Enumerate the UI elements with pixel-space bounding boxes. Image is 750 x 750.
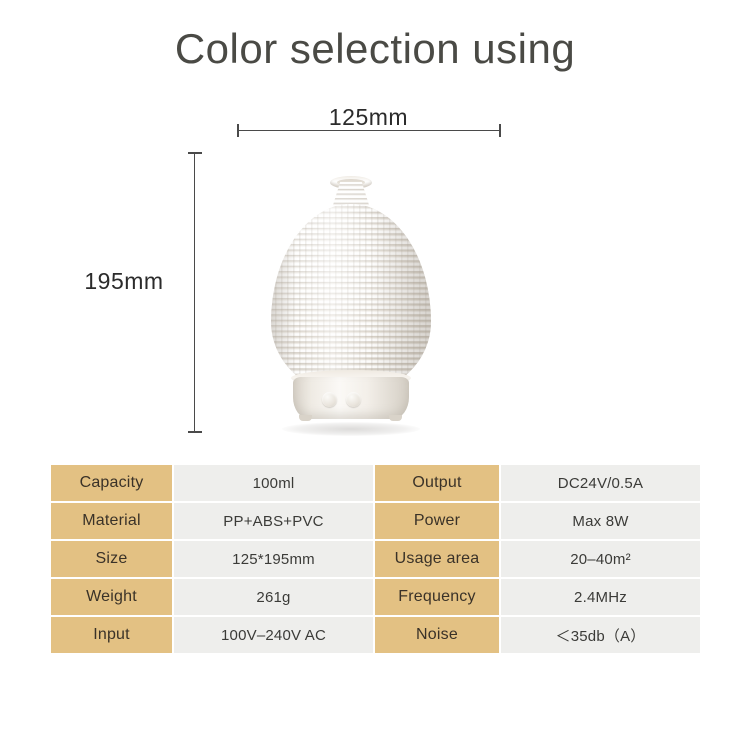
diffuser-foot-right (389, 415, 402, 421)
spec-label: Material (51, 503, 172, 539)
height-dimension-label: 195mm (64, 268, 184, 295)
spec-label: Weight (51, 579, 172, 615)
spec-value: DC24V/0.5A (501, 465, 700, 501)
product-shadow (282, 422, 420, 436)
table-row: Output DC24V/0.5A (375, 465, 700, 501)
spec-label: Input (51, 617, 172, 653)
table-row: Size 125*195mm (51, 541, 373, 577)
width-dimension-tick-left (237, 124, 239, 137)
table-row: Weight 261g (51, 579, 373, 615)
specification-table: Capacity 100ml Material PP+ABS+PVC Size … (51, 465, 700, 653)
spec-value: PP+ABS+PVC (174, 503, 373, 539)
spec-value: 100ml (174, 465, 373, 501)
diffuser-body-shape (271, 204, 431, 394)
page-title: Color selection using (0, 26, 750, 72)
height-dimension-tick-top (188, 152, 202, 154)
body-shading (271, 204, 431, 394)
table-row: Input 100V–240V AC (51, 617, 373, 653)
spec-value: 100V–240V AC (174, 617, 373, 653)
height-dimension-line (194, 152, 195, 433)
spec-value: 125*195mm (174, 541, 373, 577)
spec-label: Frequency (375, 579, 499, 615)
height-dimension-tick-bottom (188, 431, 202, 433)
spec-label: Size (51, 541, 172, 577)
width-dimension-tick-right (499, 124, 501, 137)
spec-table-left-half: Capacity 100ml Material PP+ABS+PVC Size … (51, 465, 373, 653)
table-row: Capacity 100ml (51, 465, 373, 501)
spec-label: Noise (375, 617, 499, 653)
spec-value: 261g (174, 579, 373, 615)
spec-value: 20–40m² (501, 541, 700, 577)
table-row: Material PP+ABS+PVC (51, 503, 373, 539)
diffuser-power-button[interactable] (322, 392, 337, 407)
diffuser-body (258, 170, 444, 402)
spec-label: Output (375, 465, 499, 501)
spec-label: Usage area (375, 541, 499, 577)
width-dimension-label: 125mm (237, 104, 500, 131)
diffuser-light-button[interactable] (346, 392, 361, 407)
table-row: Noise ＜35db（A） (375, 617, 700, 653)
spec-table-right-half: Output DC24V/0.5A Power Max 8W Usage are… (375, 465, 700, 653)
spec-label: Capacity (51, 465, 172, 501)
width-dimension-line (237, 130, 500, 131)
spec-value: Max 8W (501, 503, 700, 539)
spec-label: Power (375, 503, 499, 539)
spec-value: ＜35db（A） (501, 617, 700, 653)
table-row: Frequency 2.4MHz (375, 579, 700, 615)
product-image (258, 170, 444, 432)
table-row: Power Max 8W (375, 503, 700, 539)
table-row: Usage area 20–40m² (375, 541, 700, 577)
diffuser-foot-left (299, 415, 312, 421)
spec-value: 2.4MHz (501, 579, 700, 615)
